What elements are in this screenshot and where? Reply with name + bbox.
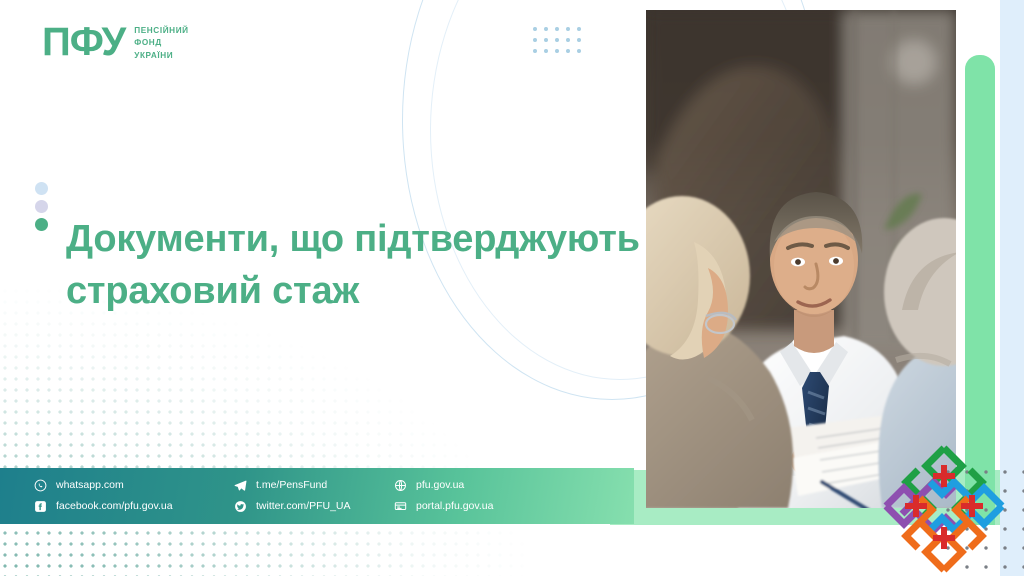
contact-portal[interactable]: portal.pfu.gov.ua (394, 500, 574, 513)
grid-dot (555, 38, 559, 42)
globe-icon (394, 479, 407, 492)
grid-dot (544, 49, 548, 53)
grid-dot (533, 38, 537, 42)
telegram-icon (234, 479, 247, 492)
contact-label: portal.pfu.gov.ua (416, 501, 493, 512)
pfu-logo: ПФУ ПЕНСІЙНИЙ ФОНД УКРАЇНИ (42, 22, 189, 62)
grid-dot (533, 27, 537, 31)
footer-contact-bar: whatsapp.com facebook.com/pfu.gov.ua (0, 468, 634, 524)
bullet-dot-2 (35, 200, 48, 213)
logo-line-2: ФОНД (134, 37, 188, 48)
grid-dot (577, 49, 581, 53)
contact-label: whatsapp.com (56, 480, 124, 491)
footer-column-1: whatsapp.com facebook.com/pfu.gov.ua (34, 479, 234, 513)
grid-dot (555, 49, 559, 53)
logo-wordmark: ПЕНСІЙНИЙ ФОНД УКРАЇНИ (134, 23, 188, 60)
contact-facebook[interactable]: facebook.com/pfu.gov.ua (34, 500, 234, 513)
whatsapp-icon (34, 479, 47, 492)
contact-label: pfu.gov.ua (416, 480, 464, 491)
bullet-dots-decoration (35, 182, 48, 231)
grid-dot (577, 27, 581, 31)
footer-column-3: pfu.gov.ua portal.pfu.gov.ua (394, 479, 574, 513)
grid-dot (533, 49, 537, 53)
bullet-dot-1 (35, 182, 48, 195)
dot-grid-decoration (533, 27, 588, 60)
contact-twitter[interactable]: twitter.com/PFU_UA (234, 500, 394, 513)
grid-dot (566, 27, 570, 31)
contact-label: facebook.com/pfu.gov.ua (56, 501, 173, 512)
contact-website[interactable]: pfu.gov.ua (394, 479, 574, 492)
portal-icon (394, 500, 407, 513)
page-title: Документи, що підтверджують страховий ст… (66, 214, 646, 317)
grid-dot (555, 27, 559, 31)
grid-dot (544, 27, 548, 31)
ukrainian-embroidery-ornament (876, 442, 1012, 576)
logo-line-3: УКРАЇНИ (134, 50, 188, 61)
grid-dot (577, 38, 581, 42)
contact-telegram[interactable]: t.me/PensFund (234, 479, 394, 492)
contact-label: twitter.com/PFU_UA (256, 501, 351, 512)
grid-dot (544, 38, 548, 42)
logo-mark: ПФУ (42, 22, 125, 62)
logo-line-1: ПЕНСІЙНИЙ (134, 25, 188, 36)
slide-root: ПФУ ПЕНСІЙНИЙ ФОНД УКРАЇНИ Документи, що… (0, 0, 1024, 576)
grid-dot (566, 38, 570, 42)
bullet-dot-3 (35, 218, 48, 231)
grid-dot (566, 49, 570, 53)
twitter-icon (234, 500, 247, 513)
slide-card: ПФУ ПЕНСІЙНИЙ ФОНД УКРАЇНИ Документи, що… (0, 0, 1000, 576)
facebook-icon (34, 500, 47, 513)
footer-column-2: t.me/PensFund twitter.com/PFU_UA (234, 479, 394, 513)
contact-label: t.me/PensFund (256, 480, 327, 491)
consultation-photo (646, 10, 956, 508)
contact-whatsapp[interactable]: whatsapp.com (34, 479, 234, 492)
